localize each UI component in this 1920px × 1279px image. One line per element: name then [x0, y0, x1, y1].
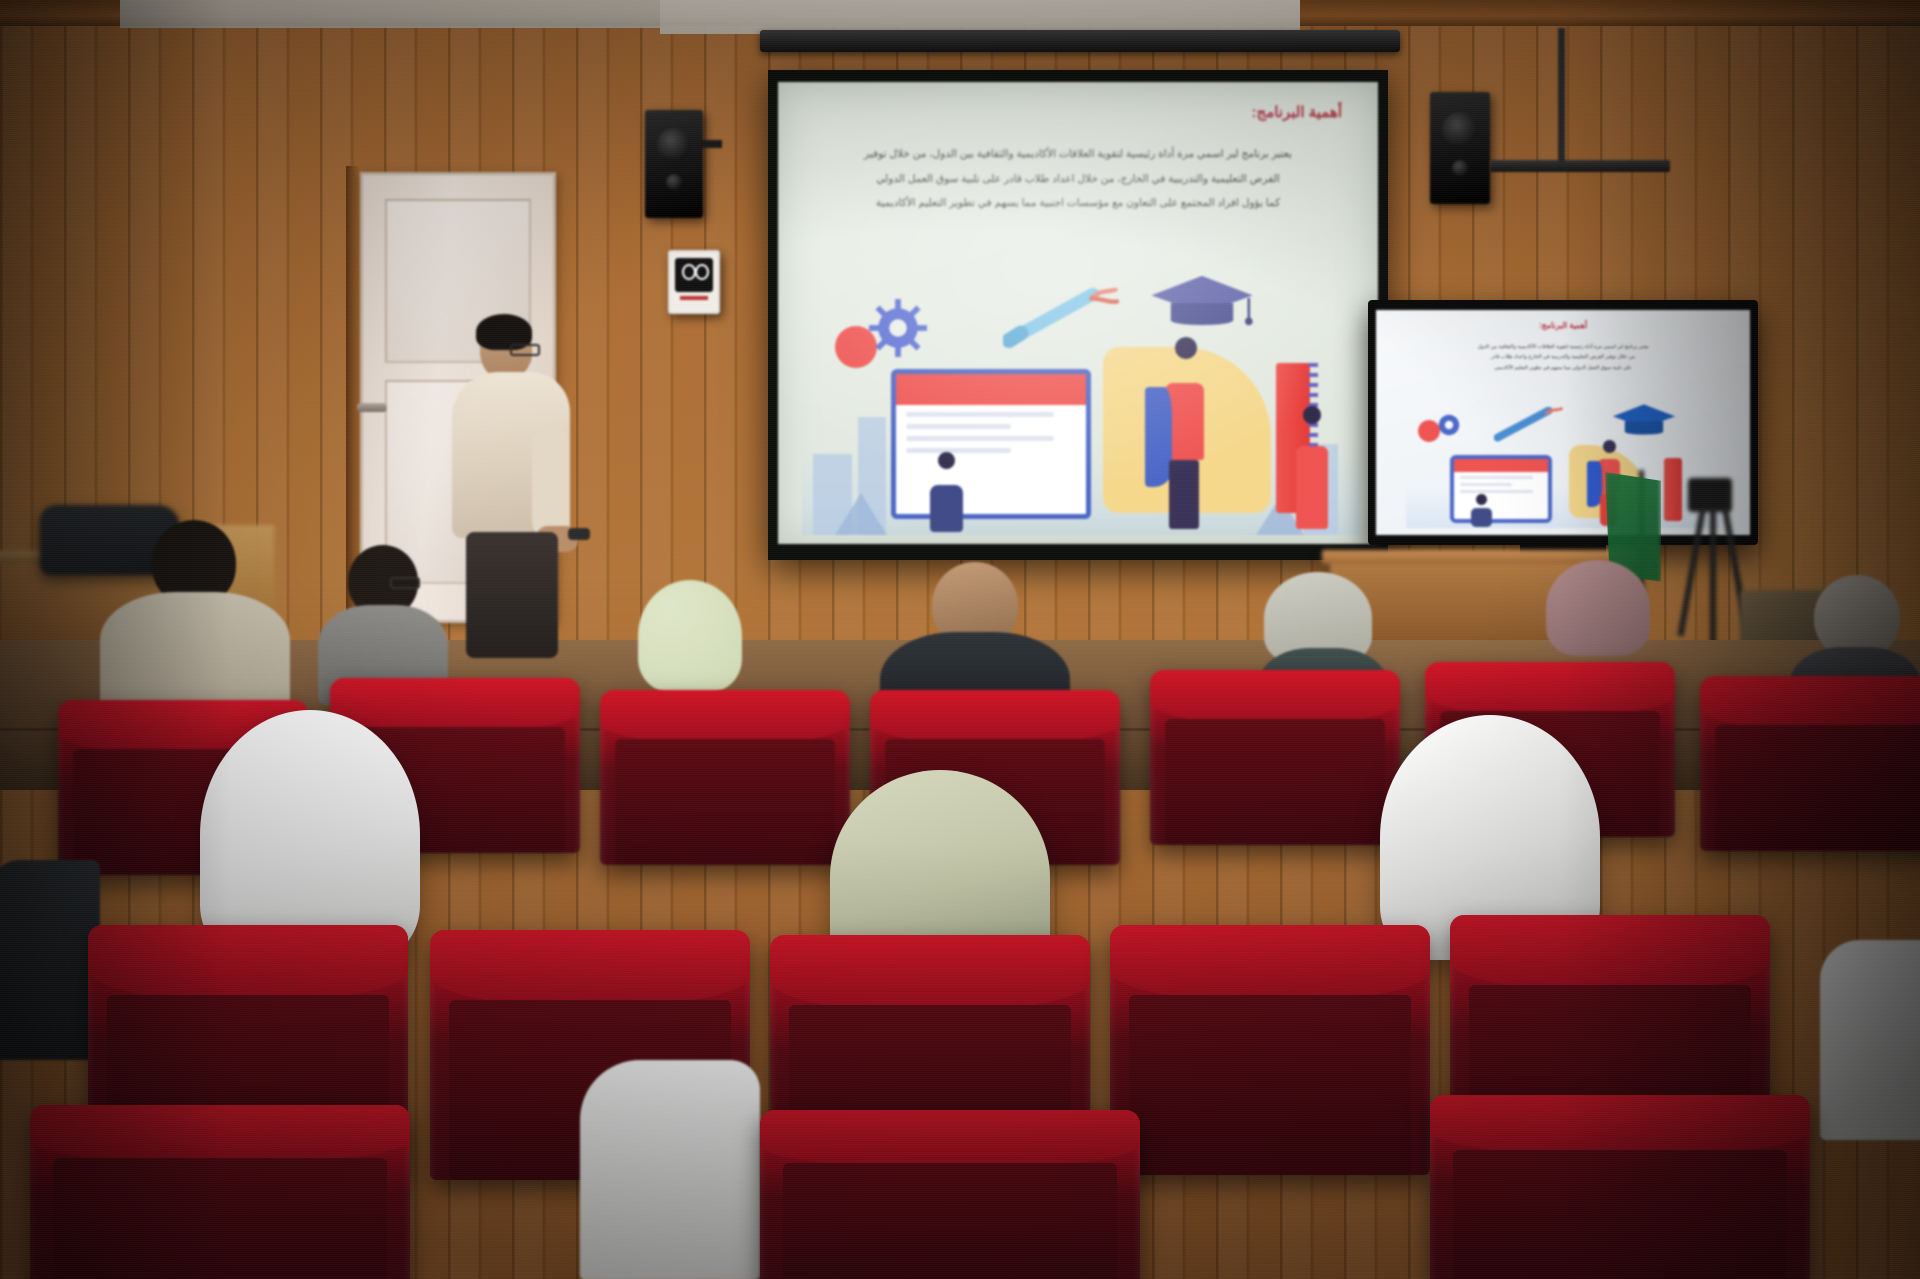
figure-head: [938, 452, 955, 469]
audience-member-back-2: [318, 545, 448, 695]
right-shadow-gradient: [1560, 0, 1920, 1279]
tv-browser-line: [1460, 490, 1534, 493]
tv-browser-line: [1460, 483, 1512, 486]
browser-text-line: [906, 424, 1010, 429]
browser-titlebar: [896, 374, 1086, 405]
presenter-standing: [452, 318, 572, 658]
seat-back: [1165, 719, 1385, 845]
browser-text-line: [906, 412, 1054, 417]
seat-r2-c3[interactable]: [600, 690, 850, 865]
clicker-remote[interactable]: [568, 528, 590, 540]
presenter-arm: [532, 428, 570, 538]
skyline-triangle-1: [835, 493, 887, 535]
seat-r4-c2[interactable]: [760, 1110, 1140, 1279]
slide-illustration: [802, 267, 1360, 535]
speaker-right: [1430, 92, 1490, 204]
slide-body-text: يعتبر برنامج لبر اسمي مرة أداة رئيسية لت…: [808, 142, 1348, 216]
tv-diploma-icon: [1494, 407, 1564, 441]
presenter-glasses: [510, 344, 540, 356]
presenter-legs: [466, 532, 558, 658]
screen-roller-case: [760, 30, 1400, 52]
speaker-bracket-left: [700, 140, 722, 148]
tv-browser-window: [1450, 455, 1552, 523]
browser-text-line: [906, 436, 1054, 441]
slide-body-line-2: الفرص التعليمية والتدريبية في الخارج، من…: [808, 167, 1348, 192]
student-figure-reading: [925, 452, 969, 532]
tv-figure-head: [1476, 494, 1487, 505]
slide-body-line-3: كما يؤول افراد المجتمع على التعاون مع مؤ…: [808, 191, 1348, 216]
graduation-cap-icon: [1150, 272, 1254, 330]
seat-headrest: [1150, 670, 1400, 723]
seat-headrest: [760, 1110, 1140, 1167]
floral-hijab: [638, 580, 742, 692]
figure-cape: [1145, 387, 1171, 487]
figure-head: [1303, 406, 1321, 424]
door-handle[interactable]: [357, 403, 387, 412]
seat-back: [1129, 995, 1411, 1175]
seat-back: [783, 1163, 1117, 1279]
figure-torso: [1296, 446, 1328, 530]
seat-back: [615, 739, 835, 865]
audience-member-white-hijab-left: [200, 710, 420, 960]
slide-title: أهمية البرنامج:: [778, 103, 1342, 121]
white-garment: [580, 1060, 760, 1279]
speaker-cone-left: [657, 128, 691, 162]
audience-member-front-white: [580, 1060, 760, 1279]
left-shadow-gradient: [0, 0, 230, 1279]
seat-headrest: [770, 935, 1090, 1010]
slide-body-line-1: يعتبر برنامج لبر اسمي مرة أداة رئيسية لت…: [808, 142, 1348, 167]
projection-screen-surface: أهمية البرنامج: يعتبر برنامج لبر اسمي مر…: [778, 82, 1378, 544]
gear-icon: [869, 299, 927, 357]
student-figure-right: [1292, 406, 1332, 529]
student-figure-standing: [1153, 337, 1215, 530]
figure-torso: [930, 485, 963, 532]
tv-browser-line: [1460, 476, 1534, 479]
browser-window: [891, 369, 1091, 518]
white-hijab: [200, 710, 420, 960]
projection-screen: أهمية البرنامج: يعتبر برنامج لبر اسمي مر…: [768, 70, 1388, 560]
tv-browser-titlebar: [1454, 459, 1548, 472]
audience-glasses: [390, 577, 420, 589]
seat-r2-c5[interactable]: [1150, 670, 1400, 845]
seat-r3-c4[interactable]: [1110, 925, 1430, 1175]
speaker-tweeter-right: [1452, 160, 1468, 176]
diploma-scroll-icon: [1003, 288, 1123, 348]
ceiling-panel-center: [660, 0, 1300, 34]
seat-headrest: [1110, 925, 1430, 1000]
tv-figure-torso: [1471, 508, 1492, 527]
speaker-cone-right: [1442, 112, 1478, 148]
tv-gear-icon: [1434, 410, 1464, 440]
figure-legs: [1169, 460, 1199, 529]
speaker-tweeter-left: [666, 174, 682, 190]
figure-head: [1175, 337, 1197, 359]
seat-headrest: [600, 690, 850, 743]
tv-figure-sitting: [1469, 494, 1495, 527]
emergency-sign: [668, 250, 720, 314]
lecture-hall-scene: أهمية البرنامج: يعتبر برنامج لبر اسمي مر…: [0, 0, 1920, 1279]
seat-headrest: [430, 930, 750, 1005]
seat-headrest: [870, 690, 1120, 743]
speaker-left: [645, 110, 703, 218]
